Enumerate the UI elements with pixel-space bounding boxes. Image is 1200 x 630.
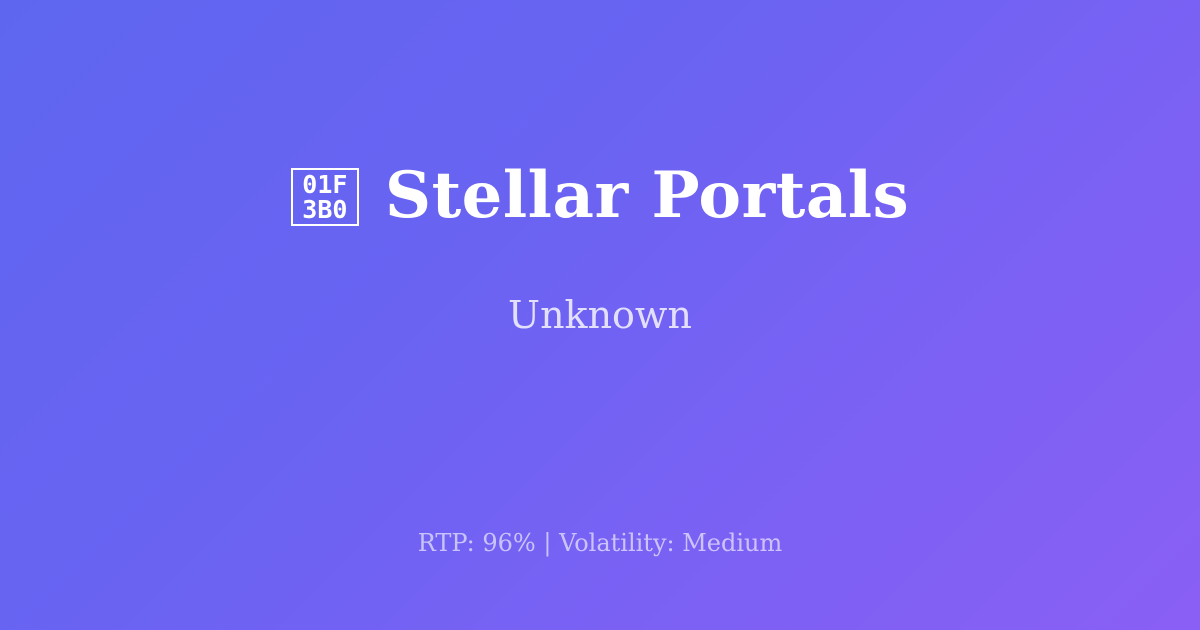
hero-section: 01F 3B0 Stellar Portals Unknown (0, 0, 1200, 500)
footer-section: RTP: 96% | Volatility: Medium (0, 528, 1200, 559)
tofu-codepoint-line-2: 3B0 (302, 197, 347, 222)
game-meta-line: RTP: 96% | Volatility: Medium (0, 528, 1200, 559)
slot-machine-emoji-icon: 01F 3B0 (291, 168, 359, 226)
og-share-card: 01F 3B0 Stellar Portals Unknown RTP: 96%… (0, 0, 1200, 630)
tofu-codepoint-line-1: 01F (302, 172, 347, 197)
title-row: 01F 3B0 Stellar Portals (291, 162, 909, 229)
page-subtitle: Unknown (508, 293, 692, 339)
page-title: Stellar Portals (385, 162, 909, 229)
